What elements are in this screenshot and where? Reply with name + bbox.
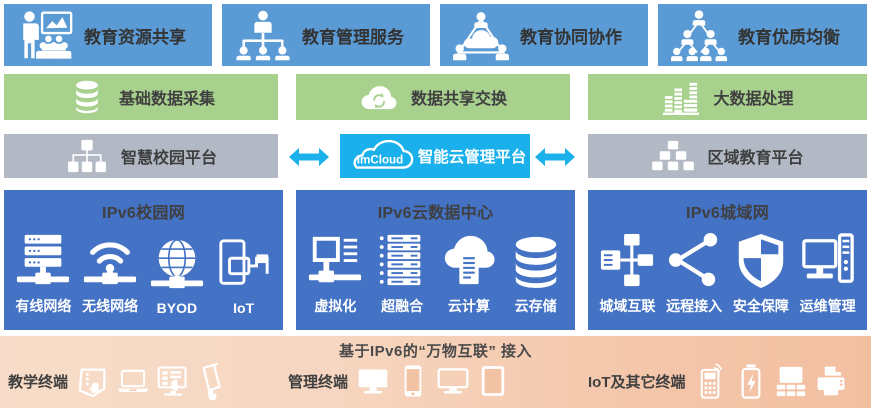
- book-hand-icon: [196, 362, 230, 400]
- service-card-3-label: 教育协同协作: [520, 23, 622, 48]
- desktop-icon: [356, 362, 390, 400]
- feature-phone-icon: [694, 362, 728, 400]
- service-card-4[interactable]: 教育优质均衡: [658, 4, 867, 66]
- metro-topology-icon: [599, 229, 655, 291]
- platform-card-left[interactable]: 智慧校园平台: [4, 134, 278, 178]
- panel-item-security[interactable]: 安全保障: [728, 229, 795, 316]
- architecture-diagram: 教育资源共享: [0, 0, 871, 408]
- cloud-sync-icon: [359, 79, 399, 115]
- double-arrow-left-icon: [287, 145, 331, 169]
- platform-card-right-label: 区域教育平台: [707, 144, 803, 168]
- data-card-2[interactable]: 数据共享交换: [296, 74, 570, 120]
- bigdata-bars-icon: [661, 79, 701, 115]
- panel-item-hyperconverged-label: 超融合: [381, 296, 423, 316]
- terminal-group-iot: IoT及其它终端: [588, 362, 848, 400]
- campus-tree-icon: [65, 138, 109, 174]
- service-card-3[interactable]: 教育协同协作: [440, 4, 648, 66]
- panel-item-wireless[interactable]: 无线网络: [77, 229, 144, 316]
- cloud-compute-icon: [441, 229, 497, 291]
- service-card-2-label: 教育管理服务: [302, 23, 404, 48]
- service-card-4-label: 教育优质均衡: [738, 23, 840, 48]
- ipv6-panel-metro[interactable]: IPv6城域网: [588, 190, 867, 330]
- data-card-2-label: 数据共享交换: [411, 85, 507, 109]
- panel-item-remote-access-label: 远程接入: [666, 296, 722, 316]
- panel-item-wired[interactable]: 有线网络: [10, 229, 77, 316]
- iot-device-icon: [216, 233, 272, 295]
- ops-monitor-icon: [800, 229, 856, 291]
- people-network-icon: [668, 7, 730, 63]
- ipv6-panel-metro-title: IPv6城域网: [588, 199, 867, 223]
- panel-item-remote-access[interactable]: 远程接入: [661, 229, 728, 316]
- panel-item-security-label: 安全保障: [733, 296, 789, 316]
- imcloud-logo-icon: ImCloud: [344, 139, 416, 173]
- hyperconverged-rack-icon: [374, 229, 430, 291]
- ipv6-panel-datacenter-title: IPv6云数据中心: [296, 199, 575, 223]
- data-card-1[interactable]: 基础数据采集: [4, 74, 278, 120]
- panel-item-ops-label: 运维管理: [800, 296, 856, 316]
- data-card-1-label: 基础数据采集: [119, 85, 215, 109]
- teacher-presentation-icon: [14, 7, 76, 63]
- panel-item-cloudcompute-label: 云计算: [448, 296, 490, 316]
- ipv6-panel-campus-title: IPv6校园网: [4, 199, 283, 223]
- platform-card-right[interactable]: 区域教育平台: [588, 134, 867, 178]
- panel-item-iot-label: IoT: [233, 300, 254, 316]
- wifi-icon: [82, 229, 138, 291]
- monitor-virtual-icon: [307, 229, 363, 291]
- org-chart-people-icon: [232, 7, 294, 63]
- server-rack-icon: [15, 229, 71, 291]
- panel-item-cloudcompute[interactable]: 云计算: [436, 229, 503, 316]
- panel-item-metro-interconnect[interactable]: 城域互联: [594, 229, 661, 316]
- terminal-group-teaching-label: 教学终端: [8, 371, 68, 392]
- panel-item-iot[interactable]: IoT: [210, 233, 277, 316]
- data-card-3[interactable]: 大数据处理: [588, 74, 867, 120]
- terminal-group-management: 管理终端: [288, 362, 510, 400]
- imcloud-platform-card[interactable]: ImCloud 智能云管理平台: [340, 134, 530, 178]
- panel-item-virtualization-label: 虚拟化: [314, 296, 356, 316]
- service-card-1[interactable]: 教育资源共享: [4, 4, 212, 66]
- shield-icon: [733, 229, 789, 291]
- panel-item-virtualization[interactable]: 虚拟化: [302, 229, 369, 316]
- terminal-group-management-label: 管理终端: [288, 371, 348, 392]
- svg-text:ImCloud: ImCloud: [356, 153, 403, 166]
- device-grid-icon: [774, 362, 808, 400]
- imcloud-platform-label: 智能云管理平台: [418, 145, 527, 167]
- region-pyramid-icon: [651, 138, 695, 174]
- panel-item-cloudstorage[interactable]: 云存储: [502, 229, 569, 316]
- ipv6-panel-datacenter[interactable]: IPv6云数据中心: [296, 190, 575, 330]
- panel-item-ops[interactable]: 运维管理: [794, 229, 861, 316]
- terminal-band-title: 基于IPv6的“万物互联” 接入: [0, 340, 871, 361]
- data-card-3-label: 大数据处理: [713, 85, 793, 109]
- interactive-screen-icon: [156, 362, 190, 400]
- terminal-group-iot-label: IoT及其它终端: [588, 371, 686, 392]
- panel-item-metro-interconnect-label: 城域互联: [599, 296, 655, 316]
- terminal-group-teaching: 教学终端: [8, 362, 230, 400]
- platform-card-left-label: 智慧校园平台: [121, 144, 217, 168]
- terminal-band: 基于IPv6的“万物互联” 接入 教学终端: [0, 336, 871, 408]
- panel-item-cloudstorage-label: 云存储: [515, 296, 557, 316]
- panel-item-byod-label: BYOD: [157, 300, 197, 316]
- service-card-2[interactable]: 教育管理服务: [222, 4, 430, 66]
- globe-icon: [149, 233, 205, 295]
- double-arrow-right-icon: [533, 145, 577, 169]
- cloud-storage-db-icon: [508, 229, 564, 291]
- printer-icon: [814, 362, 848, 400]
- smartphone-icon: [396, 362, 430, 400]
- monitor-icon: [436, 362, 470, 400]
- cloud-collaboration-icon: [450, 7, 512, 63]
- ipv6-panel-campus[interactable]: IPv6校园网: [4, 190, 283, 330]
- panel-item-hyperconverged[interactable]: 超融合: [369, 229, 436, 316]
- tablet-icon: [476, 362, 510, 400]
- panel-item-wireless-label: 无线网络: [82, 296, 138, 316]
- service-card-1-label: 教育资源共享: [84, 23, 186, 48]
- sensor-battery-icon: [734, 362, 768, 400]
- tablet-hand-icon: [76, 362, 110, 400]
- panel-item-byod[interactable]: BYOD: [144, 233, 211, 316]
- database-stack-icon: [67, 79, 107, 115]
- panel-item-wired-label: 有线网络: [15, 296, 71, 316]
- laptop-icon: [116, 362, 150, 400]
- share-nodes-icon: [666, 229, 722, 291]
